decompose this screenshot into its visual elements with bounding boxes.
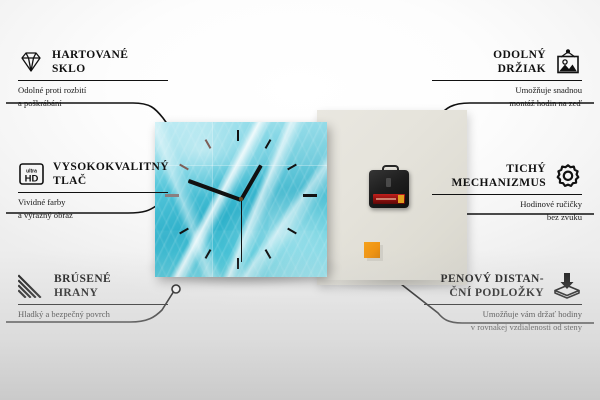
title-line-2: DRŽIAK: [493, 62, 546, 76]
glass-wall-clock: [155, 122, 327, 277]
feature-description: Umožňuje vám držať hodiny v rovnakej vzd…: [424, 308, 582, 333]
desc-line-2: bez zvuku: [432, 211, 582, 223]
clock-hands-hub: [239, 197, 243, 201]
feature-title: BRÚSENÉ HRANY: [54, 272, 111, 301]
divider: [18, 304, 168, 306]
divider: [432, 80, 582, 82]
divider: [432, 194, 582, 196]
feature-description: Umožňuje snadnou montáž hodin na zeď: [432, 84, 582, 109]
foam-spacer-pad: [364, 242, 380, 258]
title-line-2: MECHANIZMUS: [452, 176, 547, 190]
title-line-1: PENOVÝ DISTAN-: [441, 272, 544, 286]
feature-description: Hladký a bezpečný povrch: [18, 308, 168, 320]
wall-hanger-icon: [554, 49, 582, 75]
divider: [18, 192, 168, 194]
diamond-icon: [18, 50, 44, 74]
desc-line-2: a výrazný obraz: [18, 209, 168, 221]
product-photo: [137, 104, 467, 290]
desc-line-2: montáž hodin na zeď: [432, 97, 582, 109]
title-line-2: TLAČ: [53, 174, 169, 188]
feature-description: Odolné proti rozbití a poškrábání: [18, 84, 168, 109]
desc-line-1: Hladký a bezpečný povrch: [18, 308, 168, 320]
feature-polished-edges: BRÚSENÉ HRANY Hladký a bezpečný povrch: [18, 272, 168, 321]
title-line-1: VYSOKOKVALITNÝ: [53, 160, 169, 174]
feature-title: HARTOVANÉ SKLO: [52, 48, 128, 77]
feature-hd-print: ultra HD VYSOKOKVALITNÝ TLAČ Vividné far…: [18, 160, 168, 221]
feature-description: Vividné farby a výrazný obraz: [18, 196, 168, 221]
title-line-1: HARTOVANÉ: [52, 48, 128, 62]
ultra-hd-icon: ultra HD: [18, 161, 45, 187]
second-hand: [241, 200, 242, 262]
desc-line-1: Umožňuje vám držať hodiny: [424, 308, 582, 320]
feature-title: PENOVÝ DISTAN- ČNÍ PODLOŽKY: [441, 272, 544, 301]
desc-line-2: a poškrábání: [18, 97, 168, 109]
desc-line-1: Hodinové ručičky: [432, 198, 582, 210]
title-line-2: ČNÍ PODLOŽKY: [441, 286, 544, 300]
desc-line-1: Odolné proti rozbití: [18, 84, 168, 96]
divider: [18, 80, 168, 82]
title-line-1: ODOLNÝ: [493, 48, 546, 62]
feature-tempered-glass: HARTOVANÉ SKLO Odolné proti rozbití a po…: [18, 48, 168, 109]
movement-shaft: [386, 178, 391, 187]
product-feature-infographic: HARTOVANÉ SKLO Odolné proti rozbití a po…: [0, 0, 600, 400]
gear-icon: [554, 163, 582, 190]
battery-label-band: [376, 198, 396, 200]
feature-silent-mechanism: TICHÝ MECHANIZMUS Hodinové ručičky bez z…: [432, 162, 582, 223]
foam-spacer-icon: [552, 272, 582, 300]
hour-tick: [303, 194, 317, 197]
clock-movement-mechanism: [369, 170, 409, 208]
feature-foam-spacers: PENOVÝ DISTAN- ČNÍ PODLOŽKY Umožňuje vám…: [424, 272, 582, 333]
desc-line-2: v rovnakej vzdialenosti od steny: [424, 321, 582, 333]
title-line-1: BRÚSENÉ: [54, 272, 111, 286]
title-line-2: SKLO: [52, 62, 128, 76]
divider: [424, 304, 582, 306]
title-line-2: HRANY: [54, 286, 111, 300]
feature-title: TICHÝ MECHANIZMUS: [452, 162, 547, 191]
desc-line-1: Vividné farby: [18, 196, 168, 208]
feature-title: VYSOKOKVALITNÝ TLAČ: [53, 160, 169, 189]
battery-positive-terminal: [398, 195, 404, 203]
hd-label: HD: [25, 174, 39, 185]
feature-durable-hanger: ODOLNÝ DRŽIAK Umožňuje snadnou montáž ho…: [432, 48, 582, 109]
desc-line-1: Umožňuje snadnou: [432, 84, 582, 96]
aa-battery: [373, 194, 405, 204]
feature-title: ODOLNÝ DRŽIAK: [493, 48, 546, 77]
hour-tick: [237, 130, 239, 141]
polished-edge-icon: [18, 274, 46, 298]
title-line-1: TICHÝ: [452, 162, 547, 176]
feature-description: Hodinové ručičky bez zvuku: [432, 198, 582, 223]
hour-tick: [237, 258, 239, 269]
